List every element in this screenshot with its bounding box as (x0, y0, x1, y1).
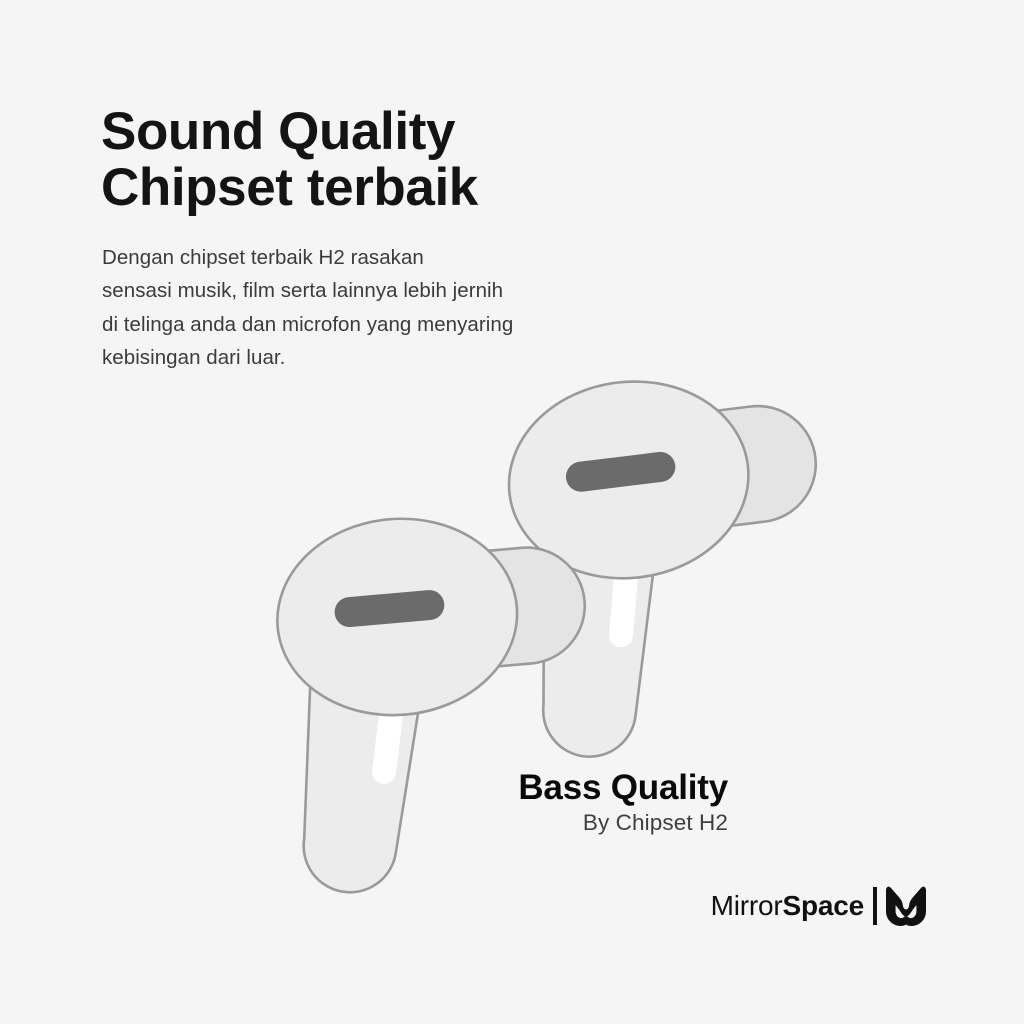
logo-word-space: Space (783, 892, 865, 920)
body-paragraph: Dengan chipset terbaik H2 rasakan sensas… (102, 241, 722, 375)
body-line-2: sensasi musik, film serta lainnya lebih … (102, 274, 722, 307)
logo-divider (873, 887, 877, 925)
page-title: Sound Quality Chipset terbaik (101, 104, 741, 216)
caption-block: Bass Quality By Chipset H2 (300, 768, 728, 837)
body-line-3: di telinga anda dan microfon yang menyar… (102, 308, 722, 341)
caption-title: Bass Quality (300, 768, 728, 808)
headline-line-2: Chipset terbaik (101, 160, 741, 216)
headline-line-1: Sound Quality (101, 104, 741, 160)
poster-canvas: Sound Quality Chipset terbaik Dengan chi… (0, 0, 1024, 1024)
caption-subtitle: By Chipset H2 (300, 809, 728, 837)
earbud-front (269, 503, 608, 897)
logo-word-mirror: Mirror (711, 892, 783, 920)
body-line-4: kebisingan dari luar. (102, 341, 722, 374)
m-monogram-icon (884, 886, 928, 926)
brand-logo: Mirror Space (420, 882, 928, 930)
earbud-back (498, 360, 849, 763)
body-line-1: Dengan chipset terbaik H2 rasakan (102, 241, 722, 274)
